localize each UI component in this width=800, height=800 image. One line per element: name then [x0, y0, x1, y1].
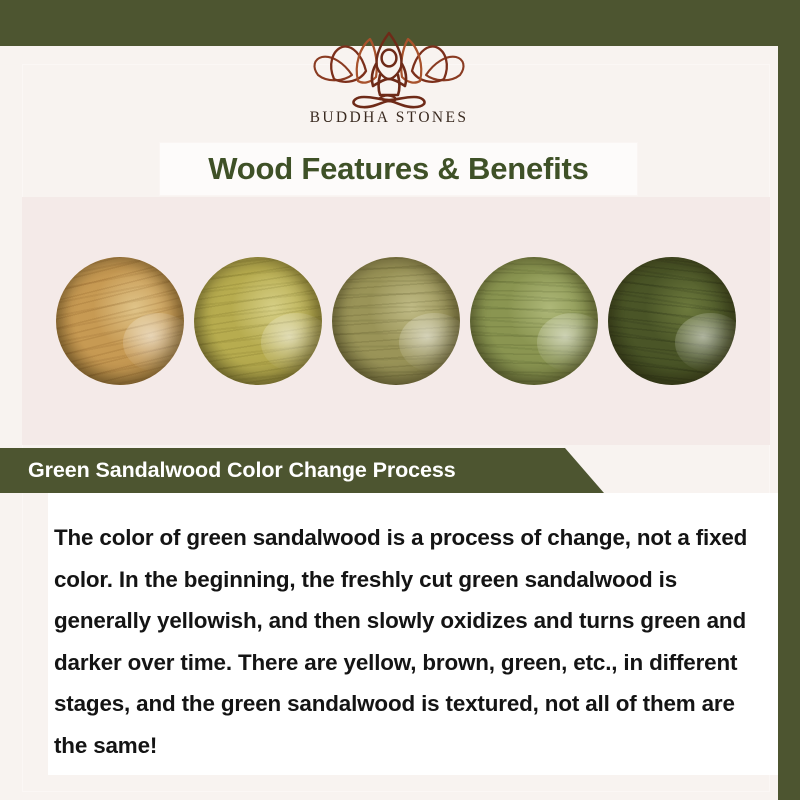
wood-bead [332, 257, 460, 385]
bead-edge-shading [608, 257, 736, 385]
brand-name: BUDDHA STONES [310, 109, 469, 127]
frame-band-right [778, 0, 800, 800]
wood-bead [56, 257, 184, 385]
body-card: The color of green sandalwood is a proce… [48, 493, 778, 775]
title-banner: Wood Features & Benefits [160, 143, 637, 195]
body-paragraph: The color of green sandalwood is a proce… [54, 517, 766, 766]
subtitle-banner: Green Sandalwood Color Change Process [0, 448, 604, 493]
wood-bead [194, 257, 322, 385]
page-title: Wood Features & Benefits [208, 151, 588, 187]
bead-edge-shading [56, 257, 184, 385]
infographic-root: BUDDHA STONES Wood Features & Benefits G… [0, 0, 800, 800]
subtitle-label: Green Sandalwood Color Change Process [28, 458, 456, 483]
beads-row [22, 197, 770, 445]
brand-header: BUDDHA STONES [0, 46, 778, 143]
page-background: BUDDHA STONES Wood Features & Benefits G… [0, 46, 778, 800]
bead-edge-shading [470, 257, 598, 385]
wood-bead [608, 257, 736, 385]
wood-bead [470, 257, 598, 385]
bead-edge-shading [194, 257, 322, 385]
bead-edge-shading [332, 257, 460, 385]
lotus-meditation-icon [305, 32, 473, 108]
beads-panel [22, 197, 770, 445]
